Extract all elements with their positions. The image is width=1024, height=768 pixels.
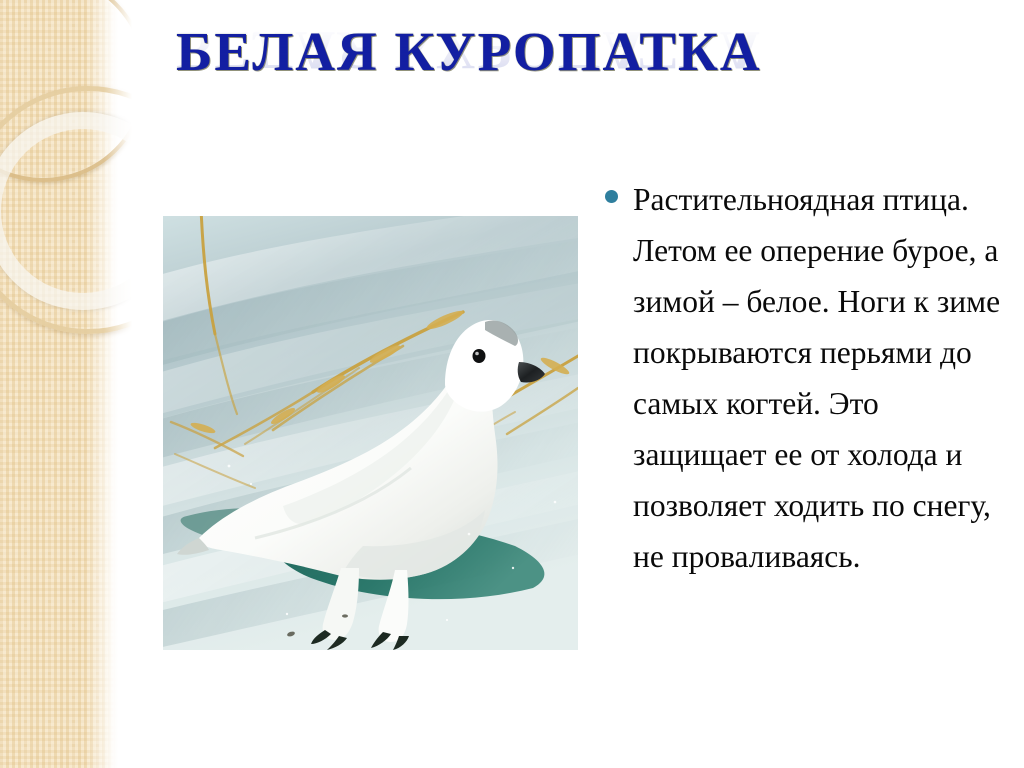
bullet-text: Растительноядная птица. Летом ее оперени… <box>633 174 1005 582</box>
slide-canvas: БЕЛАЯ КУРОПАТКА БЕЛАЯ КУРОПАТКА <box>0 0 1024 768</box>
bullet-dot-icon <box>605 190 618 203</box>
ptarmigan-photo-illustration <box>163 216 578 650</box>
ptarmigan-photo <box>163 216 578 650</box>
content-text-block: Растительноядная птица. Летом ее оперени… <box>605 174 1005 582</box>
page-title-reflection: БЕЛАЯ КУРОПАТКА <box>176 20 796 80</box>
decorative-sidebar <box>0 0 142 768</box>
list-item: Растительноядная птица. Летом ее оперени… <box>605 174 1005 582</box>
grid-fade-overlay <box>104 0 142 768</box>
slide-title-block: БЕЛАЯ КУРОПАТКА БЕЛАЯ КУРОПАТКА <box>176 22 796 118</box>
